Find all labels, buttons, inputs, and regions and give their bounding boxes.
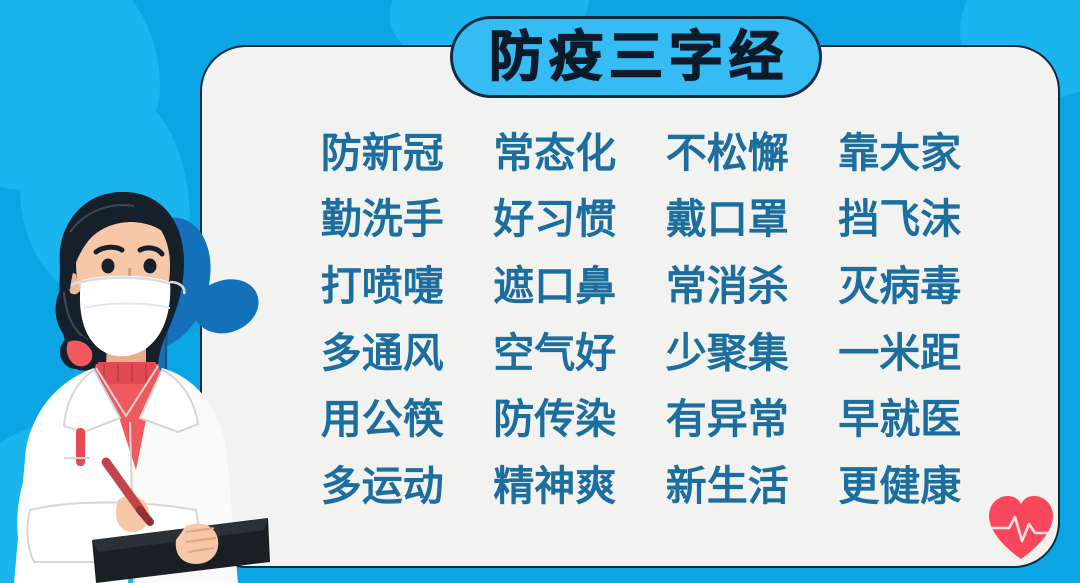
slogan-item: 靠大家 (838, 133, 961, 174)
page-title: 防疫三字经 (483, 30, 789, 84)
slogan-grid: 防新冠 常态化 不松懈 靠大家 勤洗手 好习惯 戴口罩 挡飞沫 打喷嚏 遮口鼻 … (296, 120, 986, 520)
slogan-item: 一米距 (838, 333, 961, 374)
slogan-item: 不松懈 (666, 133, 789, 174)
slogan-item: 常消杀 (666, 266, 789, 307)
slogan-item: 勤洗手 (321, 199, 444, 240)
slogan-item: 精神爽 (493, 466, 616, 507)
slogan-item: 常态化 (493, 133, 616, 174)
slogan-item: 防新冠 (321, 133, 444, 174)
heart-with-heartbeat-icon (985, 492, 1057, 562)
slogan-item: 少聚集 (666, 333, 789, 374)
slogan-item: 新生活 (666, 466, 789, 507)
slogan-item: 空气好 (493, 333, 616, 374)
slogan-item: 多通风 (321, 333, 444, 374)
slogan-item: 有异常 (666, 399, 789, 440)
slogan-item: 多运动 (321, 466, 444, 507)
slogan-item: 更健康 (838, 466, 961, 507)
slogan-item: 用公筷 (321, 399, 444, 440)
slogan-item: 好习惯 (493, 199, 616, 240)
doctor-illustration (0, 170, 270, 583)
slogan-item: 灭病毒 (838, 266, 961, 307)
slogan-item: 挡飞沫 (838, 199, 961, 240)
slogan-item: 防传染 (493, 399, 616, 440)
slogan-item: 遮口鼻 (493, 266, 616, 307)
title-badge: 防疫三字经 (450, 16, 822, 98)
poster-canvas: 防疫三字经 防新冠 常态化 不松懈 靠大家 勤洗手 好习惯 戴口罩 挡飞沫 打喷… (0, 0, 1080, 583)
slogan-item: 早就医 (838, 399, 961, 440)
slogan-item: 打喷嚏 (321, 266, 444, 307)
slogan-item: 戴口罩 (666, 199, 789, 240)
